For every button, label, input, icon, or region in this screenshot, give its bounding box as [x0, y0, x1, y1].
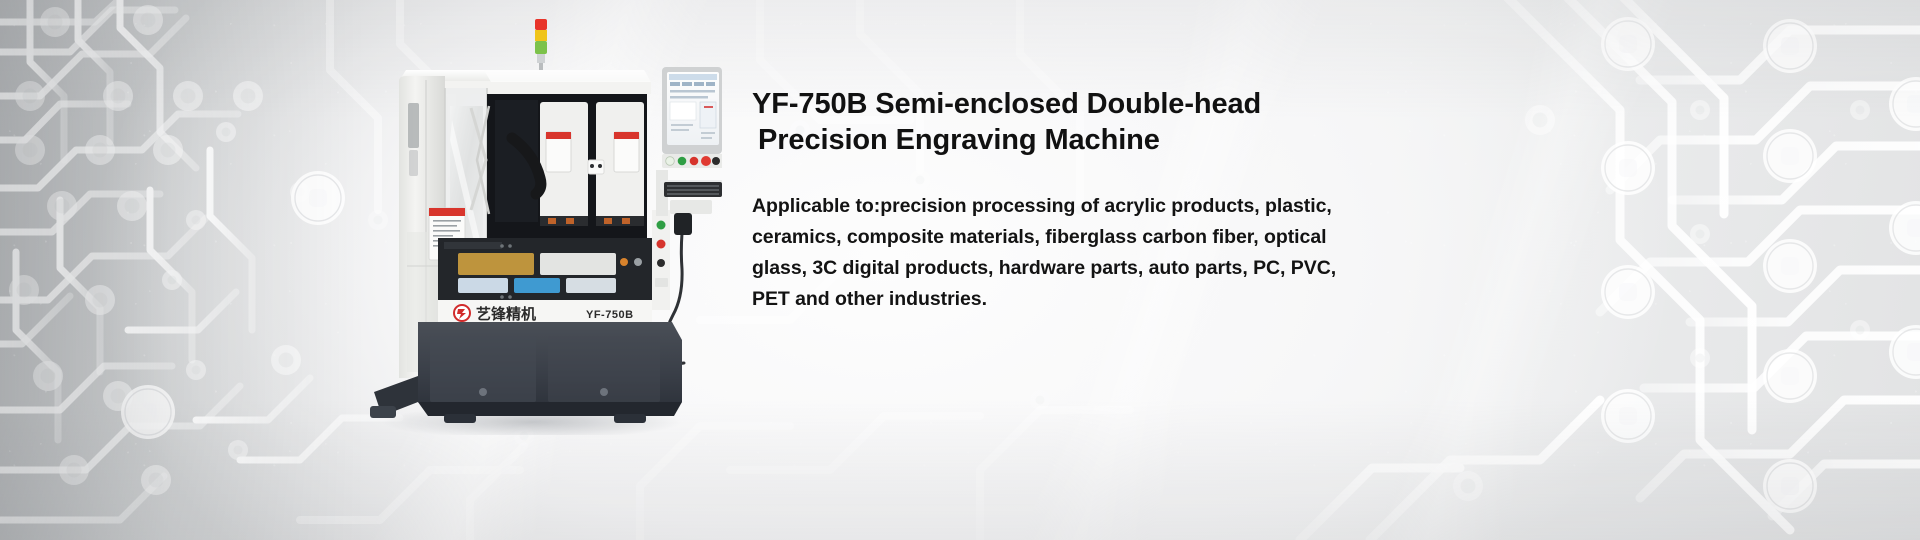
- brand-logo: [454, 305, 470, 321]
- description-line-1: Applicable to:precision processing of ac…: [752, 191, 1392, 222]
- description-line-3: glass, 3C digital products, hardware par…: [752, 253, 1392, 284]
- console-button-white: [666, 157, 675, 166]
- product-description: Applicable to:precision processing of ac…: [752, 158, 1392, 315]
- page-title-line-1: YF-750B Semi-enclosed Double-head: [752, 86, 1392, 122]
- brand-logo-text: 艺锋精机: [476, 305, 536, 323]
- console-button-red: [690, 157, 699, 166]
- spindle-head-left: [540, 102, 588, 226]
- product-photo: 艺锋精机 YF-750B: [352, 10, 722, 435]
- console-button-black: [712, 157, 720, 165]
- page-title-line-2: Precision Engraving Machine: [752, 122, 1392, 158]
- banner-copy: YF-750B Semi-enclosed Double-head Precis…: [752, 86, 1392, 315]
- indicator-lamp-red: [657, 240, 666, 249]
- indicator-lamp-green: [657, 221, 666, 230]
- machine-operator-console: [656, 67, 722, 363]
- indicator-lamp-black: [657, 259, 665, 267]
- model-label: YF-750B: [586, 309, 634, 321]
- console-button-estop: [701, 156, 711, 166]
- description-line-4: PET and other industries.: [752, 284, 1392, 315]
- console-button-green: [678, 157, 687, 166]
- description-line-2: ceramics, composite materials, fiberglas…: [752, 222, 1392, 253]
- product-hero-banner: 艺锋精机 YF-750B YF-750B Semi-enclosed Doubl…: [0, 0, 1920, 540]
- engraving-machine-illustration: 艺锋精机 YF-750B: [352, 10, 722, 435]
- page-title: YF-750B Semi-enclosed Double-head Precis…: [752, 86, 1392, 158]
